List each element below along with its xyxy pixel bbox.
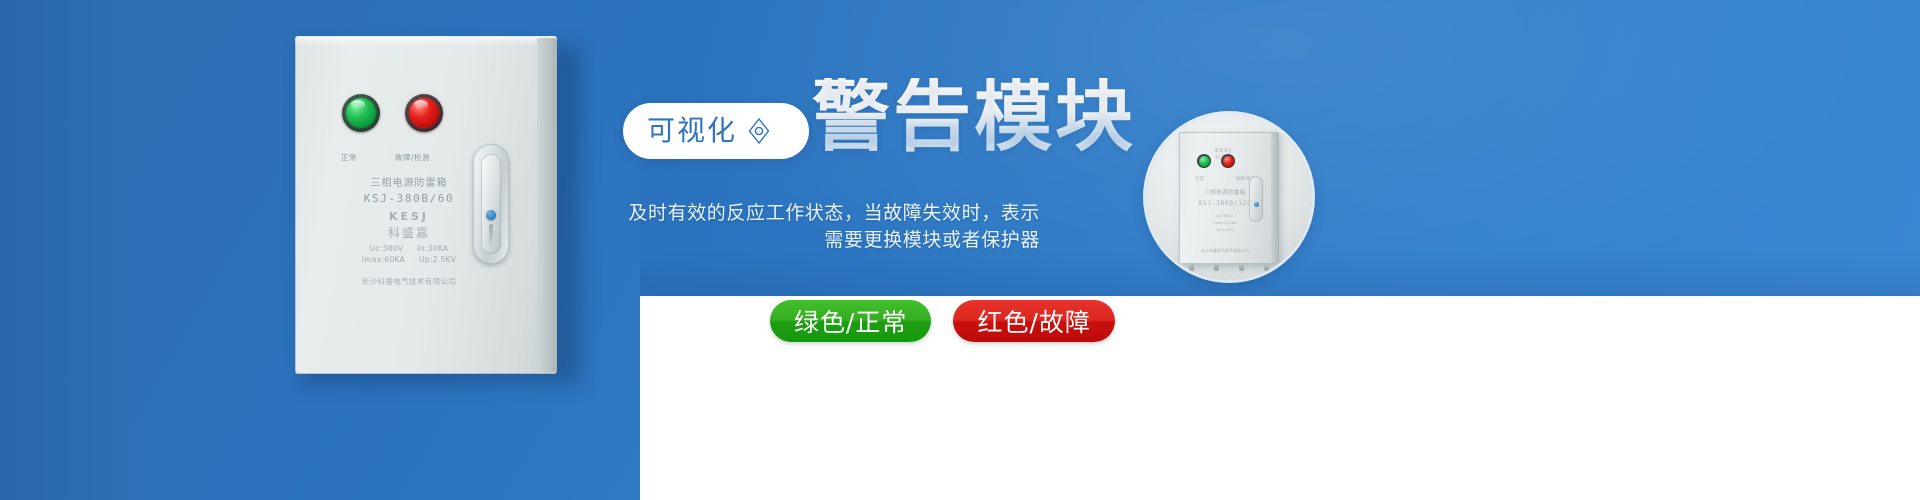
visualization-badge-label: 可视化 [647, 117, 737, 145]
inset-door-handle [1249, 176, 1263, 222]
inset-lamp-dome [1223, 156, 1234, 167]
indicator-lamp-red [405, 94, 443, 132]
circular-inset-photo: KESJ 科盛嘉 正常 故障/检测 三相电源防雷箱 KSJ-380D/120 U… [1146, 114, 1312, 280]
inset-indicator-lamp-red [1221, 154, 1235, 168]
inset-foot [1214, 264, 1219, 271]
inset-side-panel [1271, 133, 1279, 263]
spec-imax: Imax:60KA [362, 255, 405, 264]
product-company-name: 长沙科盛电气技术有限公司 [295, 276, 523, 287]
indicator-lamp-green [342, 94, 380, 132]
banner-background-left-edge [0, 0, 128, 500]
inset-handle-lock-indicator [1254, 202, 1259, 207]
lamp-label-normal: 正常 [341, 152, 357, 163]
spec-in: In:30KA [417, 244, 448, 253]
inset-enclosure: KESJ 科盛嘉 正常 故障/检测 三相电源防雷箱 KSJ-380D/120 U… [1179, 132, 1279, 264]
enclosure-top-highlight [295, 36, 557, 46]
lamp-label-fault: 故障/检测 [395, 152, 430, 163]
inset-foot [1239, 264, 1244, 271]
handle-key-slot [489, 224, 493, 248]
subcopy-line-2: 需要更换模块或者保护器 [580, 227, 1040, 254]
visibility-diamond-icon [748, 118, 770, 144]
lamp-gloss [351, 100, 365, 109]
handle-lock-indicator [486, 210, 496, 220]
enclosure-side-panel [537, 38, 557, 372]
spec-up: Up:2.5KV [419, 255, 456, 264]
status-pill-group: 绿色/正常 红色/故障 [770, 300, 1115, 342]
enclosure-door-handle [473, 144, 509, 264]
banner-subcopy: 及时有效的反应工作状态，当故障失效时，表示 需要更换模块或者保护器 [580, 200, 1040, 254]
inset-lamp-label-normal: 正常 [1195, 176, 1204, 182]
banner-stage: 正常 故障/检测 三相电源防雷箱 KSJ-380B/60 KESJ 科盛嘉 Uc… [0, 0, 1920, 500]
status-badge-fault[interactable]: 红色/故障 [953, 300, 1114, 342]
inset-company-name: 长沙科盛电气技术有限公司 [1179, 248, 1271, 254]
banner-headline: 警告模块 [812, 78, 1136, 156]
visualization-badge[interactable]: 可视化 [623, 103, 809, 159]
inset-mounting-feet [1179, 264, 1279, 272]
inset-foot [1189, 264, 1194, 271]
subcopy-line-1: 及时有效的反应工作状态，当故障失效时，表示 [580, 200, 1040, 227]
inset-foot [1264, 264, 1269, 271]
lamp-gloss [414, 100, 428, 109]
status-badge-normal[interactable]: 绿色/正常 [770, 300, 931, 342]
inset-indicator-lamp-green [1197, 154, 1211, 168]
spec-uc: Uc:380V [370, 244, 404, 253]
inset-spec-up: Up:2.5KV [1179, 228, 1271, 232]
product-photo: 正常 故障/检测 三相电源防雷箱 KSJ-380B/60 KESJ 科盛嘉 Uc… [295, 36, 557, 374]
product-enclosure: 正常 故障/检测 三相电源防雷箱 KSJ-380B/60 KESJ 科盛嘉 Uc… [295, 36, 557, 374]
inset-lamp-dome [1199, 156, 1210, 167]
